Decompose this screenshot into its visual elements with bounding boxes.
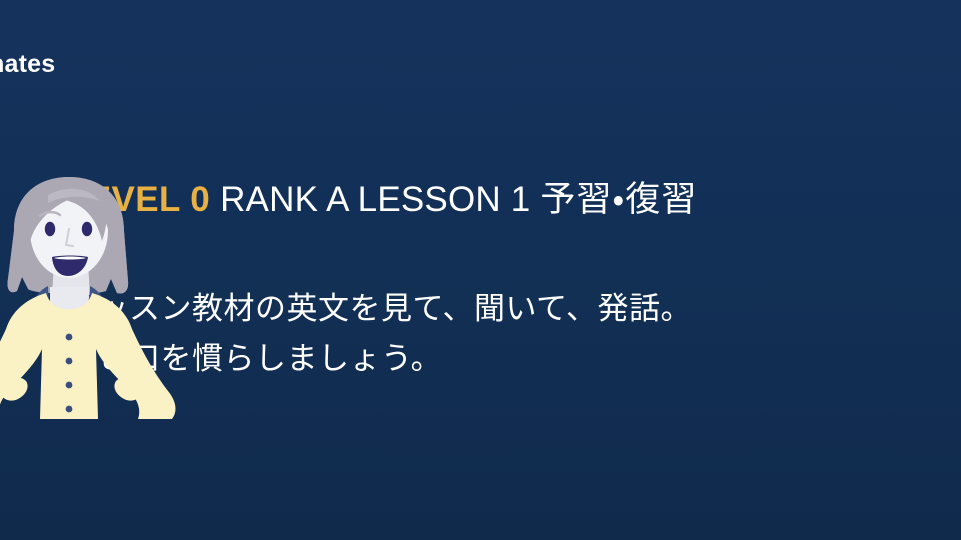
hand-left (0, 377, 28, 400)
body-copy: レッスン教材の英文を見て、聞いて、発話。 耳と口を慣らしましょう。 (66, 284, 961, 384)
eyebrow-left (40, 212, 60, 216)
collar-left (31, 286, 51, 312)
nose (66, 229, 73, 246)
eye-right (82, 222, 92, 236)
body-line-2: 耳と口を慣らしましょう。 (66, 334, 961, 384)
headline-rank: RANK A LESSON 1 (210, 180, 540, 219)
slide-canvas: Bizmates LEVEL 0 RANK A LESSON 1 予習・復習 レ… (0, 0, 961, 540)
page-title: LEVEL 0 RANK A LESSON 1 予習・復習 (66, 178, 961, 222)
body-line-1: レッスン教材の英文を見て、聞いて、発話。 (66, 284, 961, 334)
eye-left (45, 222, 55, 236)
headline-japanese: 予習・復習 (540, 180, 697, 219)
button-4 (66, 406, 73, 413)
teeth (54, 257, 86, 260)
mouth (52, 256, 88, 277)
brand-logo: Bizmates (0, 52, 905, 77)
headline-level: LEVEL 0 (66, 180, 210, 219)
